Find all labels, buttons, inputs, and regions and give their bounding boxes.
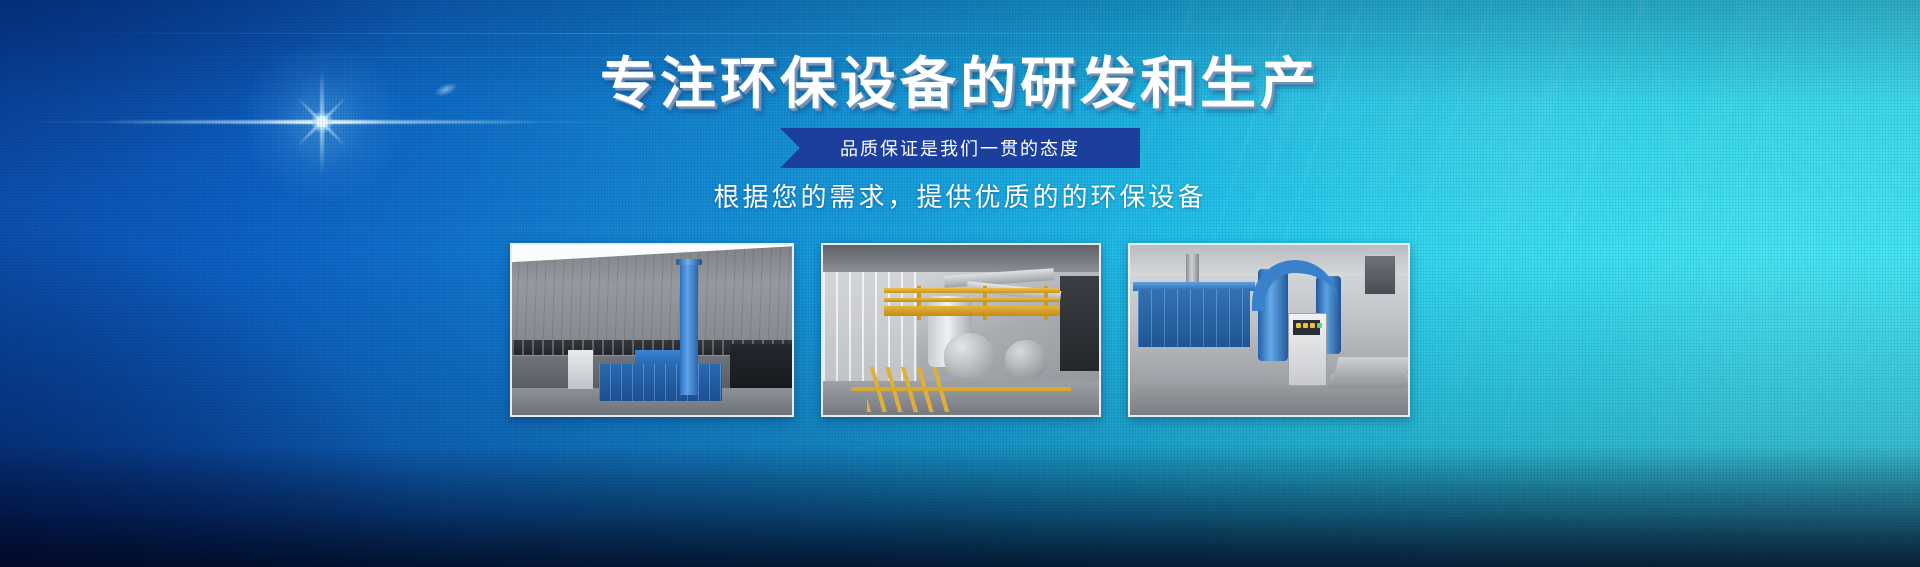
photo2-ceiling (823, 245, 1099, 272)
ribbon-notch-left (740, 128, 780, 168)
gallery-photo-1[interactable] (510, 243, 794, 417)
photo1-door (568, 350, 593, 389)
photo3-panel-led (1317, 323, 1322, 328)
photo1-stack (680, 262, 698, 395)
banner-subline: 根据您的需求，提供优质的的环保设备 (0, 177, 1920, 214)
photo2-shadow (1060, 276, 1099, 371)
photo2-railing (884, 298, 1061, 302)
photo1-unit-grid (599, 364, 722, 401)
gallery-photo-3[interactable] (1128, 243, 1410, 417)
photo2-tank (944, 333, 994, 377)
ribbon-body: 品质保证是我们一贯的态度 (780, 128, 1140, 168)
photo3-panel-led (1296, 323, 1301, 328)
promo-banner: 专注环保设备的研发和生产 品质保证是我们一贯的态度 根据您的需求，提供优质的的环… (0, 0, 1920, 567)
photo-gallery (0, 243, 1920, 417)
photo3-floor (1130, 384, 1408, 415)
photo1-stack-cap (676, 259, 703, 266)
photo3-panel-led (1303, 323, 1308, 328)
photo2-platform (884, 306, 1061, 316)
ribbon-banner: 品质保证是我们一贯的态度 (0, 128, 1920, 168)
photo3-hopper-grid (1138, 289, 1249, 347)
photo2-tank (1005, 340, 1046, 377)
photo3-window (1364, 255, 1397, 294)
ribbon-notch-right (1140, 128, 1180, 168)
gallery-photo-2[interactable] (821, 243, 1101, 417)
photo3-panel-led (1310, 323, 1315, 328)
photo2-beam (851, 387, 1072, 391)
photo3-tray (1333, 357, 1410, 381)
banner-headline: 专注环保设备的研发和生产 (0, 56, 1920, 112)
ribbon-label: 品质保证是我们一贯的态度 (840, 135, 1080, 161)
photo2-railing (884, 288, 1061, 293)
banner-content: 专注环保设备的研发和生产 品质保证是我们一贯的态度 根据您的需求，提供优质的的环… (0, 0, 1920, 567)
